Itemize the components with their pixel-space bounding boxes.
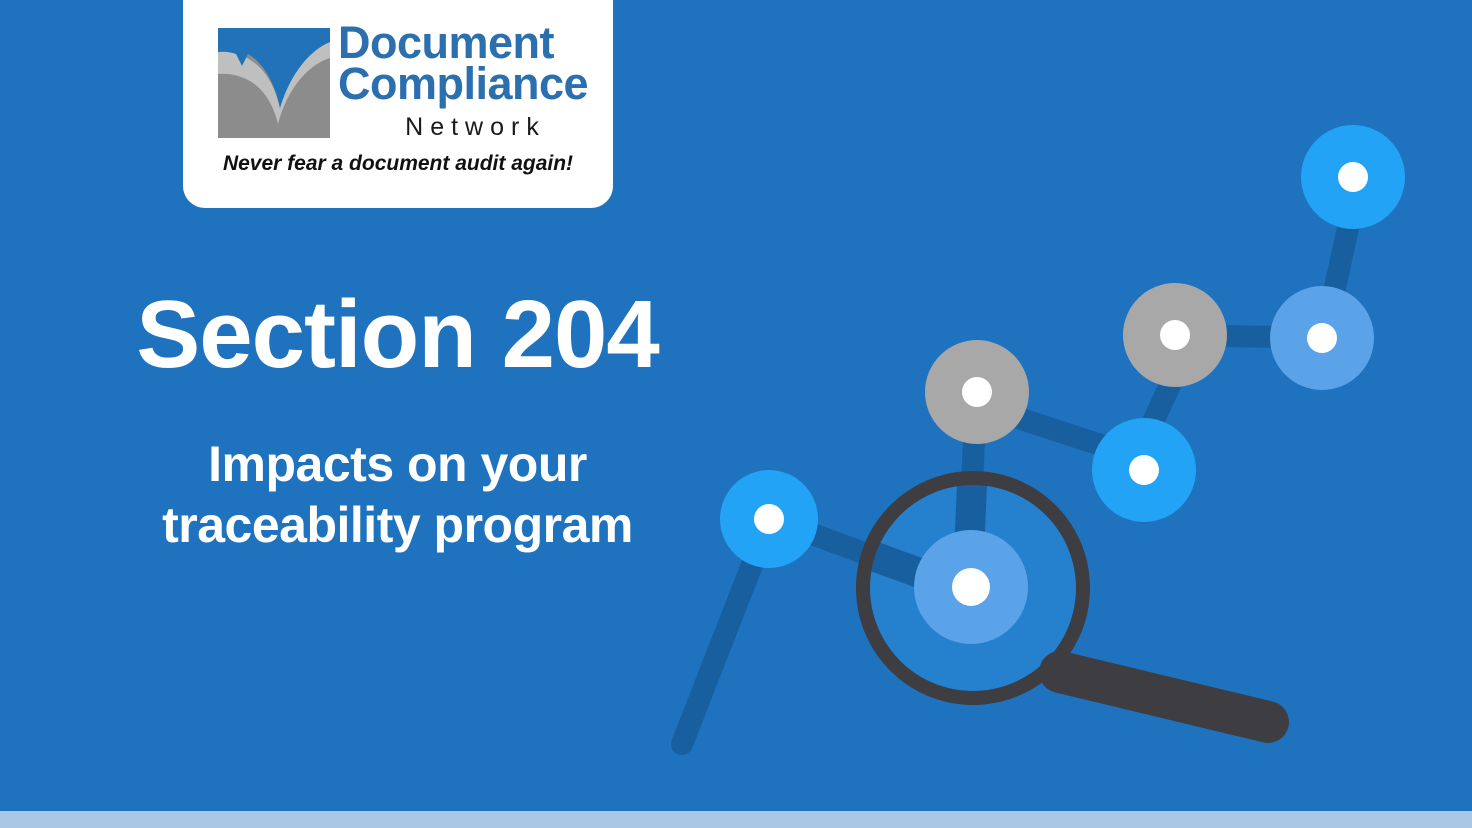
link-gray-l-to-blue [1018,418,1110,448]
slide-subtitle: Impacts on your traceability program [40,434,755,556]
link-right-to-top [1334,228,1348,292]
brand-wordmark: Document Compliance Network [338,22,603,142]
link-blue-to-gray-r [1152,385,1170,424]
document-compliance-network-logo-mark [218,28,330,138]
node-center-dot [962,377,992,407]
brand-line-network: Network [338,113,603,142]
magnifier-handle [1060,672,1268,722]
node-center-dot [952,568,990,606]
brand-line-compliance: Compliance [338,63,603,104]
node-blue-mid [1092,418,1196,522]
node-gray-left [925,340,1029,444]
slide-canvas: Document Compliance Network Never fear a… [0,0,1472,828]
node-center-dot [1307,323,1337,353]
node-center-dot [1129,455,1159,485]
slide-subtitle-line-1: Impacts on your [40,434,755,495]
node-center-magnified [914,530,1028,644]
node-gray-right [1123,283,1227,387]
brand-logo-card: Document Compliance Network Never fear a… [183,0,613,208]
headline-block: Section 204 Impacts on your traceability… [40,285,755,556]
node-center-dot [754,504,784,534]
link-gray-r-to-right [1222,336,1275,337]
brand-tagline: Never fear a document audit again! [183,152,613,176]
brand-line-document: Document [338,22,603,63]
slide-title: Section 204 [40,285,755,386]
node-center-dot [1160,320,1190,350]
node-top-right [1301,125,1405,229]
node-center-dot [1338,162,1368,192]
node-right-medium [1270,286,1374,390]
slide-subtitle-line-2: traceability program [40,495,755,556]
link-tail-to-left [682,552,757,744]
